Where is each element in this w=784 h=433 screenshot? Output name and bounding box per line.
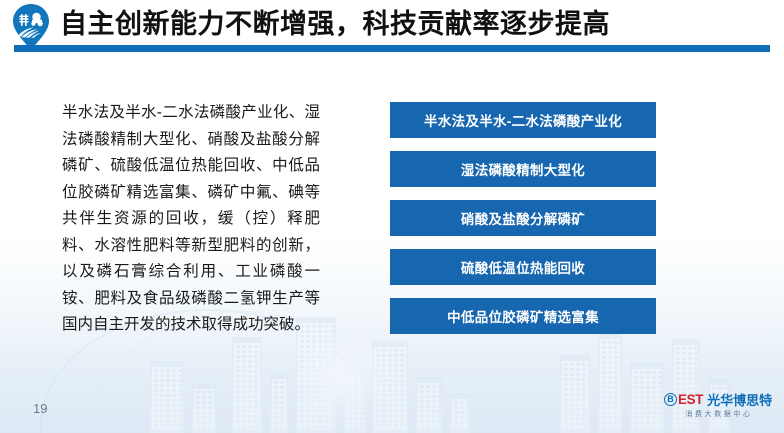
header-divider xyxy=(14,45,770,52)
logo-subtitle: 消费大数据中心 xyxy=(664,409,776,419)
logo-b-mark-icon: B xyxy=(664,393,677,406)
brand-logo-main: B EST 光华博思特 xyxy=(664,391,776,407)
brand-logo: B EST 光华博思特 消费大数据中心 xyxy=(664,391,776,421)
logo-brand-text: EST xyxy=(678,392,703,407)
technology-highlight-list: 半水法及半水-二水法磷酸产业化 湿法磷酸精制大型化 硝酸及盐酸分解磷矿 硫酸低温… xyxy=(390,102,656,334)
slide-header: 自主创新能力不断增强，科技贡献率逐步提高 xyxy=(0,0,784,56)
list-item[interactable]: 硝酸及盐酸分解磷矿 xyxy=(390,200,656,236)
page-title: 自主创新能力不断增强，科技贡献率逐步提高 xyxy=(60,6,610,42)
building-silhouette xyxy=(192,383,216,433)
slide-body: 半水法及半水-二水法磷酸产业化、湿法磷酸精制大型化、硝酸及盐酸分解磷矿、硫酸低温… xyxy=(0,56,784,386)
slide: 自主创新能力不断增强，科技贡献率逐步提高 半水法及半水-二水法磷酸产业化、湿法磷… xyxy=(0,0,784,433)
building-silhouette xyxy=(450,393,470,433)
list-item[interactable]: 硫酸低温位热能回收 xyxy=(390,249,656,285)
agriculture-location-pin-icon xyxy=(10,3,52,51)
logo-brand-cn-text: 光华博思特 xyxy=(707,390,772,409)
list-item[interactable]: 湿法磷酸精制大型化 xyxy=(390,151,656,187)
description-paragraph: 半水法及半水-二水法磷酸产业化、湿法磷酸精制大型化、硝酸及盐酸分解磷矿、硫酸低温… xyxy=(62,100,320,339)
list-item[interactable]: 半水法及半水-二水法磷酸产业化 xyxy=(390,102,656,138)
page-number: 19 xyxy=(33,401,47,416)
list-item[interactable]: 中低品位胶磷矿精选富集 xyxy=(390,298,656,334)
